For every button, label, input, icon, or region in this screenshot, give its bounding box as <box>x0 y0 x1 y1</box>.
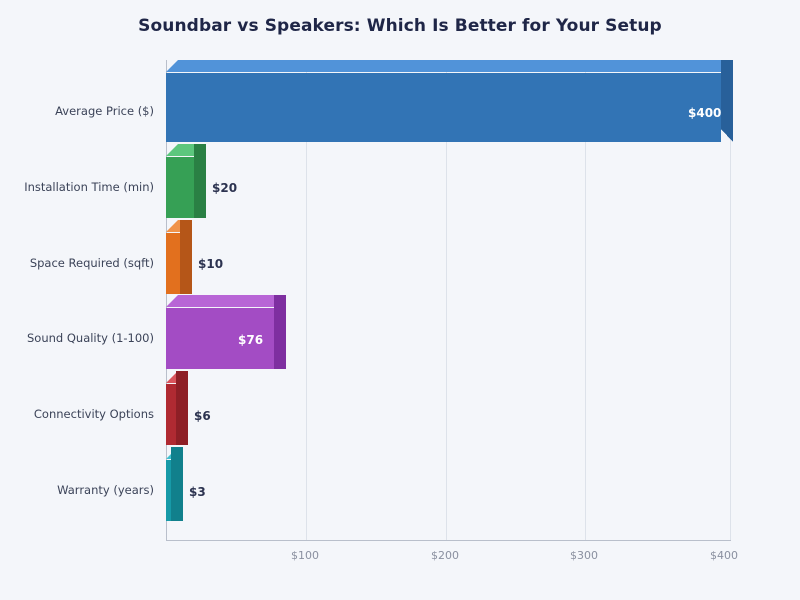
bar-2-value-label: $10 <box>198 257 223 271</box>
bar-1-value-label: $20 <box>212 181 237 195</box>
bar-4-side-face <box>176 371 188 445</box>
bar-0-side-face <box>721 60 733 129</box>
y-axis-label-3: Sound Quality (1-100) <box>27 331 154 345</box>
bar-0-side-bevel <box>721 129 733 142</box>
bar-3-side-face <box>274 295 286 369</box>
bar-1-front-face <box>166 157 194 218</box>
bar-5-value-label: $3 <box>189 485 206 499</box>
bar-5-side-face <box>171 447 183 521</box>
bar-1-side-face <box>194 144 206 218</box>
x-tick-label-2: $300 <box>570 549 598 562</box>
x-tick-label-3: $400 <box>710 549 738 562</box>
y-axis-label-2: Space Required (sqft) <box>30 256 154 270</box>
x-tick-label-1: $200 <box>431 549 459 562</box>
chart-title: Soundbar vs Speakers: Which Is Better fo… <box>0 16 800 36</box>
bar-2-front-face <box>166 233 180 294</box>
bar-0-top-face <box>166 60 733 72</box>
bar-2-side-face <box>180 220 192 294</box>
x-tick-label-0: $100 <box>291 549 319 562</box>
bar-4-front-face <box>166 384 176 445</box>
y-axis-label-0: Average Price ($) <box>55 104 154 118</box>
bar-chart: Soundbar vs Speakers: Which Is Better fo… <box>0 0 800 600</box>
y-axis-label-4: Connectivity Options <box>34 407 154 421</box>
bar-0-value-label: $400 <box>688 106 721 120</box>
y-axis-label-5: Warranty (years) <box>57 483 154 497</box>
bar-3-value-label: $76 <box>238 333 263 347</box>
bar-0-front-face <box>166 73 721 142</box>
bar-4-value-label: $6 <box>194 409 211 423</box>
y-axis-label-1: Installation Time (min) <box>24 180 154 194</box>
bar-3-top-face <box>166 295 286 307</box>
